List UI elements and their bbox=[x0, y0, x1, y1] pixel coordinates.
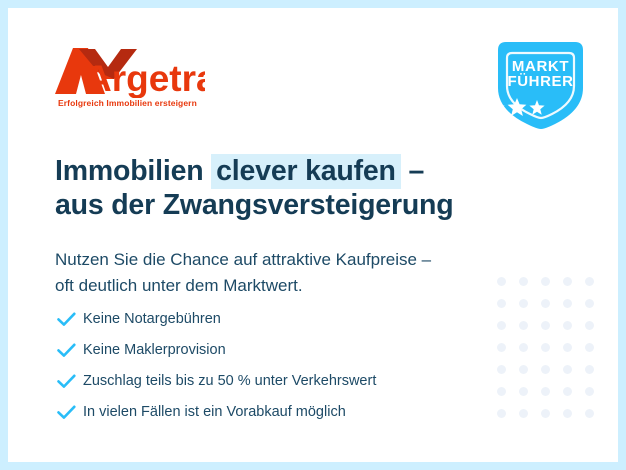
benefit-label: Zuschlag teils bis zu 50 % unter Verkehr… bbox=[83, 374, 376, 389]
decorative-dot bbox=[519, 387, 528, 396]
headline-post: – bbox=[401, 155, 424, 187]
benefits-list: Keine NotargebührenKeine Maklerprovision… bbox=[57, 304, 376, 428]
decorative-dot bbox=[563, 409, 572, 418]
dot-grid-decoration bbox=[490, 270, 600, 424]
decorative-dot bbox=[585, 277, 594, 286]
decorative-dot bbox=[497, 387, 506, 396]
decorative-dot bbox=[585, 343, 594, 352]
decorative-dot bbox=[497, 277, 506, 286]
decorative-dot bbox=[541, 387, 550, 396]
svg-text:Argetra: Argetra bbox=[85, 58, 205, 98]
decorative-dot bbox=[519, 277, 528, 286]
decorative-dot bbox=[541, 365, 550, 374]
decorative-dot bbox=[563, 299, 572, 308]
page-title: Immobilien clever kaufen – aus der Zwang… bbox=[55, 155, 453, 223]
benefit-label: In vielen Fällen ist ein Vorabkauf mögli… bbox=[83, 405, 346, 420]
benefit-label: Keine Maklerprovision bbox=[83, 343, 226, 358]
decorative-dot bbox=[563, 277, 572, 286]
decorative-dot bbox=[541, 277, 550, 286]
decorative-dot bbox=[563, 387, 572, 396]
check-icon bbox=[57, 312, 83, 327]
decorative-dot bbox=[585, 321, 594, 330]
headline-highlight: clever kaufen bbox=[211, 154, 401, 189]
decorative-dot bbox=[585, 299, 594, 308]
decorative-dot bbox=[497, 343, 506, 352]
subtitle-line-1: Nutzen Sie die Chance auf attraktive Kau… bbox=[55, 247, 431, 273]
argetra-logo: Argetra Erfolgreich Immobilien ersteiger… bbox=[55, 46, 205, 104]
headline-line-2: aus der Zwangsversteigerung bbox=[55, 189, 453, 223]
decorative-dot bbox=[563, 343, 572, 352]
decorative-dot bbox=[541, 299, 550, 308]
headline-line-1: Immobilien clever kaufen – bbox=[55, 155, 453, 189]
shield-icon bbox=[488, 36, 593, 134]
argetra-logo-icon: Argetra bbox=[55, 46, 205, 98]
benefit-item: In vielen Fällen ist ein Vorabkauf mögli… bbox=[57, 397, 376, 428]
decorative-dot bbox=[519, 321, 528, 330]
decorative-dot bbox=[585, 409, 594, 418]
decorative-dot bbox=[497, 299, 506, 308]
logo-mark-wrap: Argetra bbox=[55, 46, 205, 104]
decorative-dot bbox=[585, 365, 594, 374]
promo-banner: Argetra Erfolgreich Immobilien ersteiger… bbox=[0, 0, 626, 470]
benefit-label: Keine Notargebühren bbox=[83, 312, 221, 327]
decorative-dot bbox=[519, 299, 528, 308]
headline-pre: Immobilien bbox=[55, 155, 211, 187]
decorative-dot bbox=[541, 321, 550, 330]
subtitle-line-2: oft deutlich unter dem Marktwert. bbox=[55, 273, 431, 299]
check-icon bbox=[57, 374, 83, 389]
decorative-dot bbox=[563, 365, 572, 374]
decorative-dot bbox=[541, 343, 550, 352]
banner-canvas: Argetra Erfolgreich Immobilien ersteiger… bbox=[8, 8, 618, 462]
decorative-dot bbox=[519, 343, 528, 352]
decorative-dot bbox=[519, 409, 528, 418]
decorative-dot bbox=[497, 409, 506, 418]
decorative-dot bbox=[497, 365, 506, 374]
decorative-dot bbox=[497, 321, 506, 330]
check-icon bbox=[57, 343, 83, 358]
decorative-dot bbox=[563, 321, 572, 330]
market-leader-badge: MARKT FÜHRER bbox=[488, 36, 593, 134]
check-icon bbox=[57, 405, 83, 420]
benefit-item: Keine Maklerprovision bbox=[57, 335, 376, 366]
decorative-dot bbox=[541, 409, 550, 418]
decorative-dot bbox=[519, 365, 528, 374]
logo-tagline: Erfolgreich Immobilien ersteigern bbox=[58, 98, 197, 108]
benefit-item: Keine Notargebühren bbox=[57, 304, 376, 335]
benefit-item: Zuschlag teils bis zu 50 % unter Verkehr… bbox=[57, 366, 376, 397]
decorative-dot bbox=[585, 387, 594, 396]
subtitle: Nutzen Sie die Chance auf attraktive Kau… bbox=[55, 247, 431, 300]
